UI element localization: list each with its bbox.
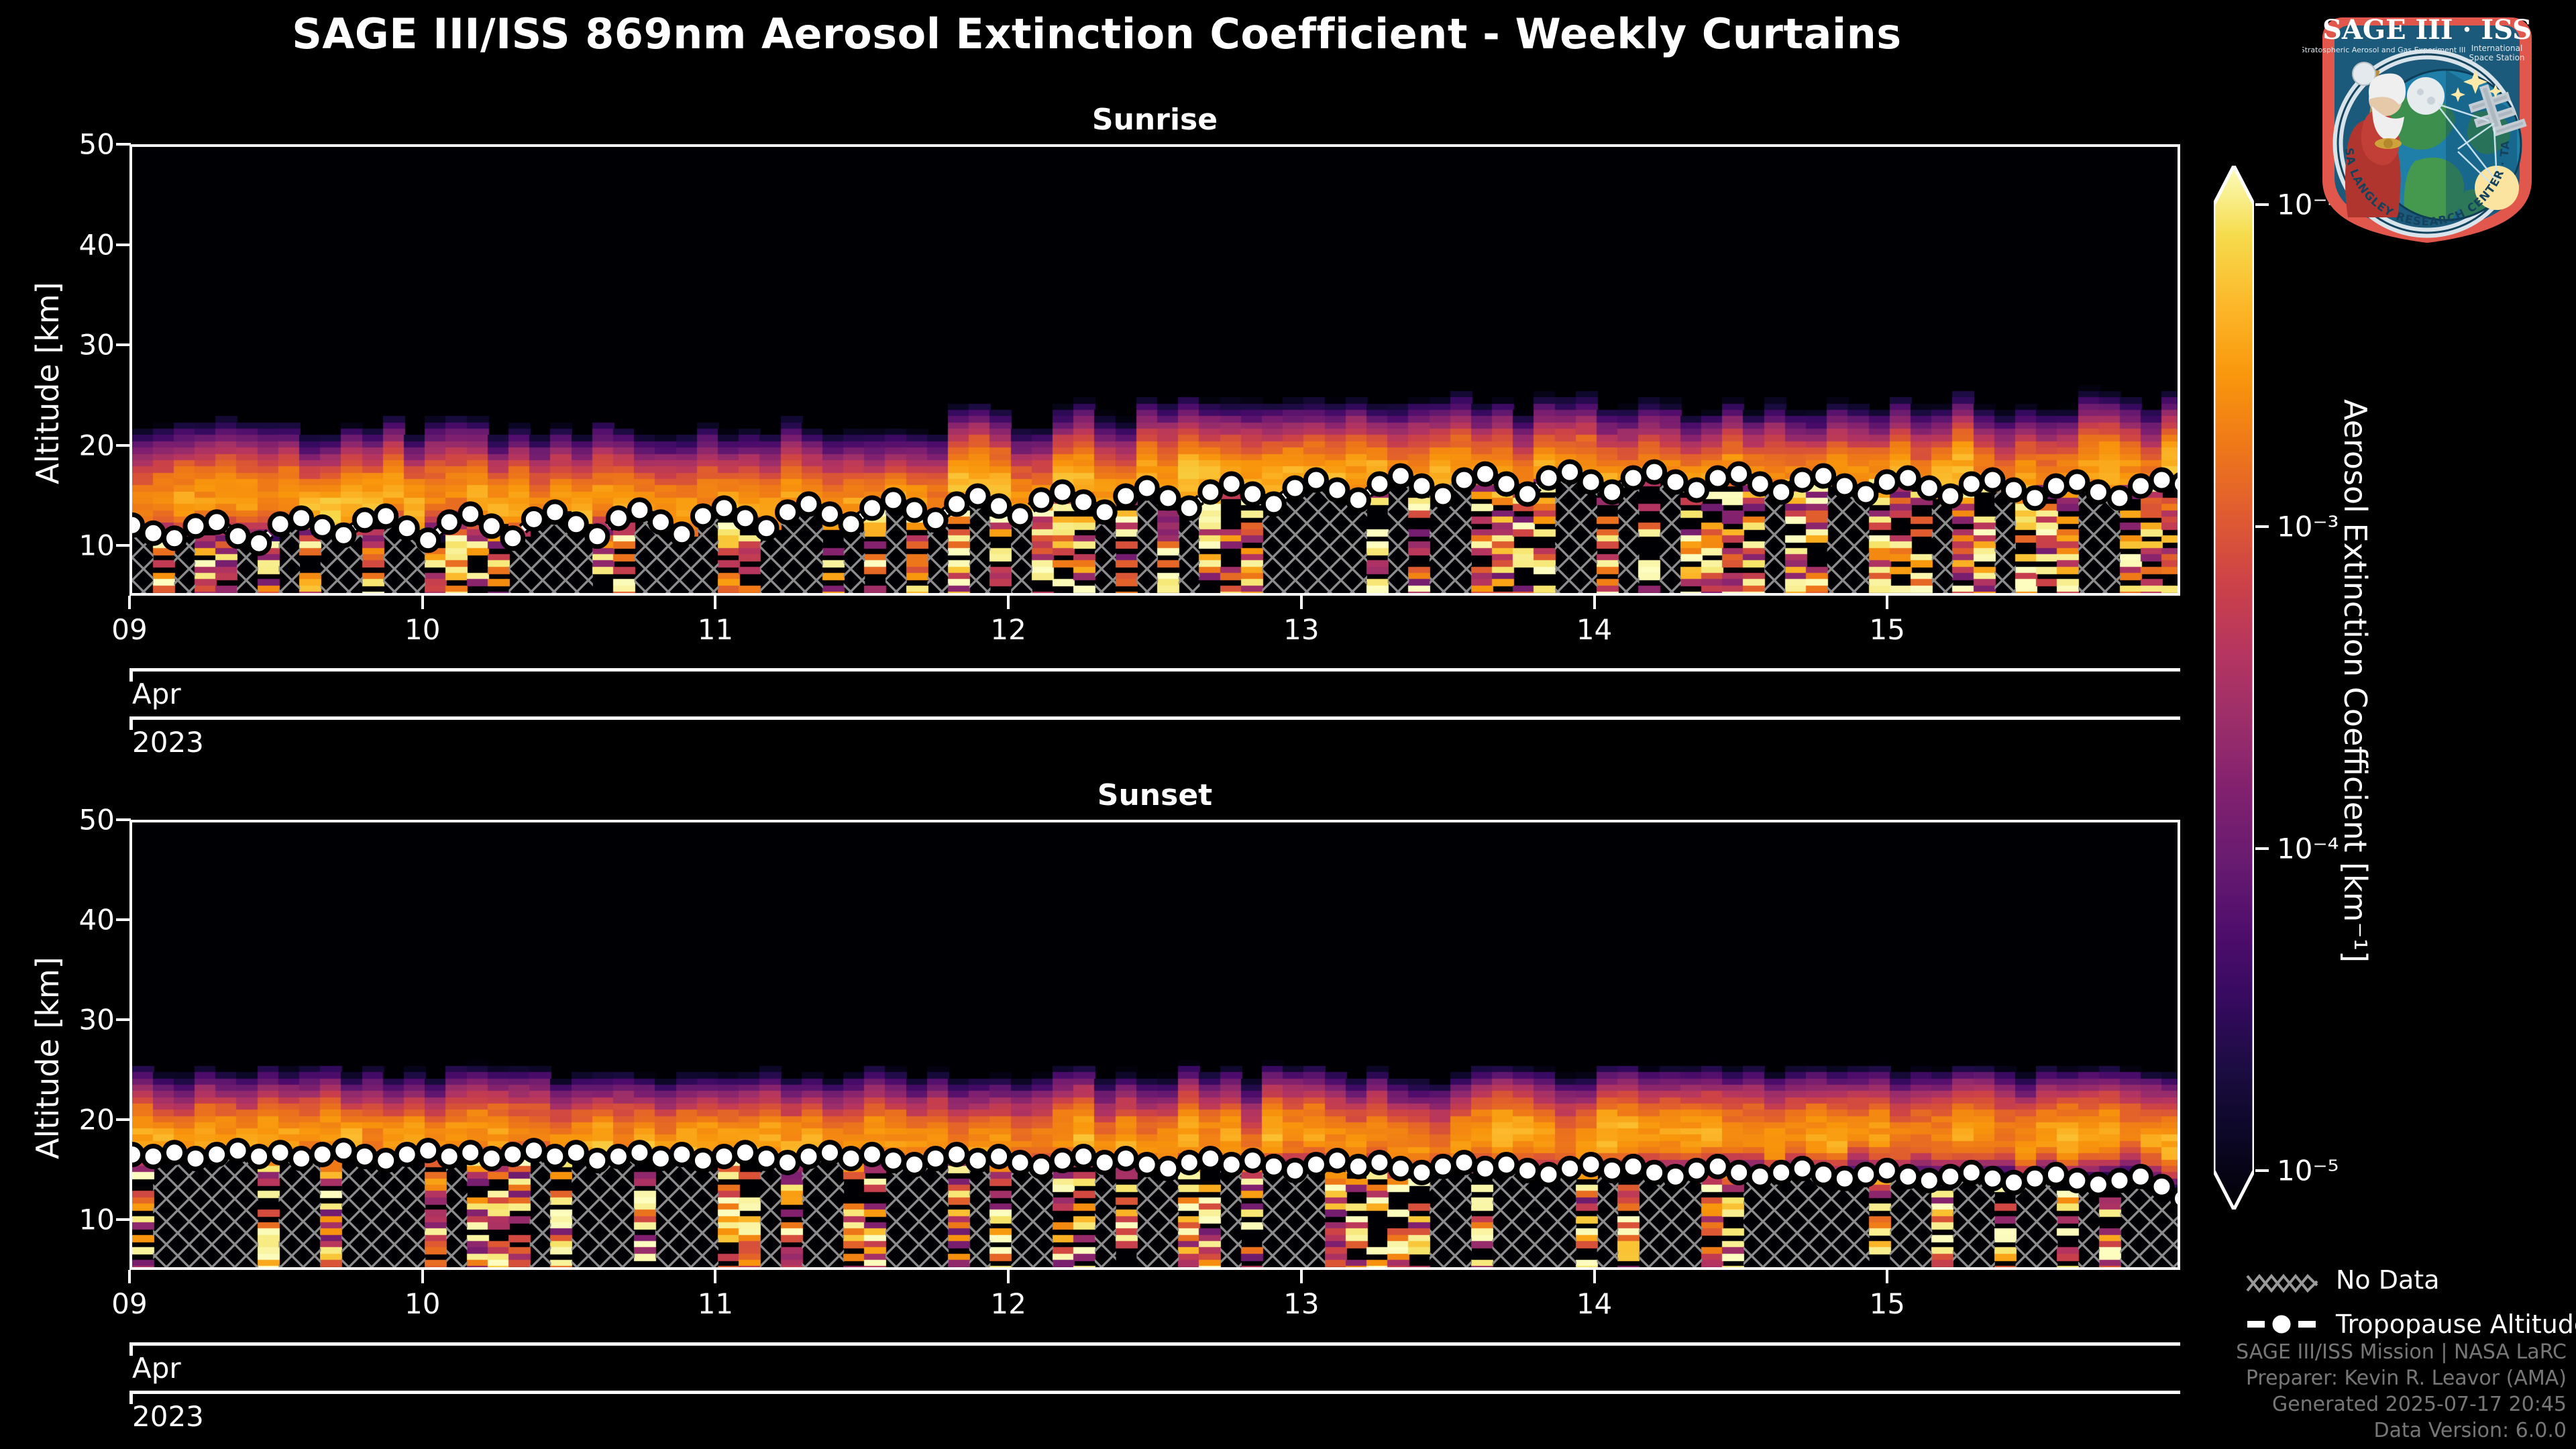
x-tick-mark (714, 596, 716, 609)
logo-subtitle-left: Stratospheric Aerosol and Gas Experiment… (2302, 46, 2465, 54)
plot-area-sunrise[interactable] (129, 144, 2180, 596)
footer-line-version: Data Version: 6.0.0 (2236, 1417, 2567, 1444)
tropopause-marker (2025, 488, 2045, 508)
tropopause-marker (291, 508, 312, 529)
tropopause-marker (756, 1148, 777, 1169)
legend-label-tropopause: Tropopause Altitude (2336, 1309, 2576, 1339)
tropopause-marker (672, 1144, 692, 1165)
page-title: SAGE III/ISS 869nm Aerosol Extinction Co… (0, 9, 2194, 58)
no-data-hatch (1807, 1175, 1828, 1270)
tropopause-marker (608, 508, 629, 529)
tropopause-marker (692, 506, 713, 527)
footer-line-generated: Generated 2025-07-17 20:45 (2236, 1391, 2567, 1417)
tropopause-marker (1136, 478, 1157, 498)
tropopause-marker (650, 512, 671, 533)
tropopause-marker (1200, 482, 1221, 502)
tropopause-marker-icon (2246, 1309, 2318, 1339)
no-data-hatch (2099, 498, 2121, 596)
tropopause-marker (1496, 474, 1517, 494)
y-tick-label: 50 (56, 128, 115, 161)
colorbar-tick-mark (2255, 847, 2269, 850)
tropopause-marker (1623, 468, 1644, 488)
tropopause-marker (1707, 468, 1728, 488)
tropopause-marker (227, 1140, 248, 1161)
tropopause-marker (439, 1146, 460, 1167)
tropopause-marker (1940, 486, 1961, 506)
tropopause-marker (820, 504, 841, 525)
tropopause-marker (1052, 1150, 1073, 1171)
tropopause-marker (1031, 490, 1052, 511)
tropopause-marker (1665, 472, 1686, 492)
y-tick-mark (116, 244, 131, 246)
tropopause-marker (1771, 1162, 1792, 1183)
tropopause-marker (143, 523, 164, 543)
x-tick-label: 14 (1576, 613, 1612, 646)
legend-item-no-data[interactable]: No Data (2246, 1265, 2440, 1295)
no-data-hatch (1785, 1169, 1807, 1270)
tropopause-marker (185, 516, 206, 537)
sage-iii-iss-mission-patch-logo[interactable]: SAGE III · ISS Stratospheric Aerosol and… (2302, 5, 2552, 255)
tropopause-marker (1644, 1162, 1665, 1183)
tropopause-marker (2131, 476, 2151, 496)
tropopause-marker (2151, 470, 2172, 490)
footer-credits: SAGE III/ISS Mission | NASA LaRC Prepare… (2236, 1339, 2567, 1444)
tropopause-marker (883, 1150, 904, 1171)
no-data-hatch (216, 1155, 237, 1270)
x-tick-mark (1593, 596, 1596, 609)
tropopause-marker (1390, 1158, 1411, 1179)
mission-patch-icon: SAGE III · ISS Stratospheric Aerosol and… (2302, 5, 2552, 255)
tropopause-marker (1327, 480, 1348, 500)
tropopause-marker (1834, 1168, 1855, 1189)
no-data-hatch (1827, 486, 1849, 596)
no-data-hatch (1136, 1165, 1158, 1270)
tropopause-marker (1813, 466, 1834, 486)
no-data-hatch (1555, 1169, 1576, 1270)
tropopause-marker (1496, 1155, 1517, 1175)
no-data-hatch (1764, 1173, 1786, 1270)
tropopause-marker (1411, 1162, 1432, 1183)
tropopause-marker (629, 500, 650, 521)
no-data-hatch (1576, 482, 1597, 596)
tropopause-marker (1813, 1164, 1834, 1185)
tropopause-marker (1686, 480, 1707, 500)
x-tick-mark (421, 596, 424, 609)
date-axis-rule-year (129, 716, 2180, 720)
tropopause-marker (1158, 1158, 1179, 1179)
tropopause-marker (629, 1142, 650, 1163)
tropopause-marker (566, 514, 586, 535)
no-data-hatch (1283, 1171, 1305, 1270)
tropopause-marker (2088, 1174, 2108, 1195)
date-axis-label-month: Apr (132, 1352, 181, 1385)
tropopause-marker (608, 1146, 629, 1167)
tropopause-marker (2173, 1188, 2181, 1209)
no-data-hatch (195, 1159, 217, 1270)
no-data-hatch (1430, 496, 1451, 596)
no-data-hatch (1325, 490, 1346, 596)
tropopause-marker (502, 528, 523, 549)
tropopause-marker (1433, 1156, 1454, 1177)
tropopause-marker (1876, 1160, 1897, 1181)
tropopause-marker (1221, 1155, 1242, 1175)
tropopause-marker (1580, 472, 1601, 492)
no-data-hatch (676, 1155, 698, 1270)
tropopause-marker (1179, 1152, 1199, 1173)
tropopause-marker (1602, 1160, 1623, 1181)
no-data-hatch (1534, 1175, 1556, 1270)
tropopause-marker (502, 1144, 523, 1165)
tropopause-marker (396, 1144, 417, 1165)
no-data-hatch (697, 1161, 718, 1270)
tropopause-marker (2151, 1176, 2172, 1197)
tropopause-marker (566, 1142, 586, 1163)
date-axis-label-year: 2023 (132, 1400, 204, 1433)
tropopause-marker (333, 525, 354, 545)
tropopause-marker (1094, 502, 1115, 523)
y-tick-mark (116, 544, 131, 547)
tropopause-marker (1580, 1155, 1601, 1175)
date-axis-rule-month (129, 1342, 2180, 1346)
legend-item-tropopause[interactable]: Tropopause Altitude (2246, 1309, 2576, 1339)
tropopause-marker (1538, 468, 1559, 488)
plot-area-sunset[interactable] (129, 820, 2180, 1270)
tropopause-marker (1750, 474, 1770, 494)
no-data-hatch (1032, 1167, 1053, 1270)
tropopause-marker (1369, 474, 1390, 494)
logo-subtitle-right-2: Space Station (2469, 53, 2524, 62)
y-tick-mark (116, 1118, 131, 1121)
tropopause-marker (587, 526, 608, 547)
tropopause-marker (1982, 1168, 2003, 1189)
date-axis-rule-year (129, 1391, 2180, 1394)
no-data-hatch (1095, 1163, 1116, 1270)
x-tick-mark (1007, 1270, 1010, 1283)
y-tick-mark (116, 444, 131, 447)
no-data-hatch (1932, 496, 1953, 596)
tropopause-marker (2067, 472, 2088, 492)
tropopause-marker (439, 512, 460, 533)
footer-line-mission: SAGE III/ISS Mission | NASA LaRC (2236, 1339, 2567, 1365)
no-data-hatch (1743, 1177, 1765, 1270)
colorbar-tick-label: 10⁻⁴ (2277, 833, 2339, 865)
no-data-hatch (300, 1159, 321, 1270)
tropopause-marker (1623, 1156, 1644, 1177)
y-tick-label: 40 (56, 904, 115, 936)
x-tick-mark (1886, 596, 1888, 609)
tropopause-marker (1729, 1162, 1750, 1183)
date-axis-label-month: Apr (132, 678, 181, 710)
tropopause-marker (714, 498, 735, 519)
tropopause-marker (925, 1148, 946, 1169)
tropopause-marker (1707, 1156, 1728, 1177)
x-tick-label: 10 (405, 1287, 440, 1320)
no-data-hatch (927, 1159, 949, 1270)
y-axis-label-sunrise: Altitude [km] (30, 282, 66, 484)
tropopause-marker (1116, 1148, 1136, 1169)
no-data-hatch (383, 1161, 405, 1270)
no-data-hatch (1660, 482, 1681, 596)
tropopause-marker (2045, 1164, 2066, 1185)
no-data-hatch (1994, 490, 2016, 596)
tropopause-overlay-sunrise (132, 147, 2180, 596)
tropopause-marker (523, 508, 544, 529)
no-data-hatch (2078, 1185, 2100, 1270)
tropopause-marker (798, 1146, 819, 1167)
no-data-hatch (1304, 1165, 1326, 1270)
tropopause-marker (862, 1144, 883, 1165)
no-data-hatch (1430, 1167, 1451, 1270)
tropopause-marker (1305, 470, 1326, 490)
tropopause-marker (1475, 464, 1496, 484)
tropopause-marker (904, 1155, 925, 1175)
tropopause-marker (925, 510, 946, 531)
tropopause-marker (1560, 462, 1580, 482)
no-data-hatch (1011, 1163, 1032, 1270)
tropopause-marker (820, 1142, 841, 1163)
tropopause-marker (1665, 1166, 1686, 1187)
no-data-hatch (1848, 494, 1870, 596)
tropopause-marker (396, 518, 417, 539)
tropopause-marker (481, 516, 502, 537)
tropopause-marker (333, 1140, 354, 1161)
y-tick-label: 40 (56, 228, 115, 261)
date-axis-rule-month (129, 668, 2180, 672)
no-data-hatch (1597, 1171, 1619, 1270)
no-data-hatch (1911, 1181, 1932, 1270)
tropopause-marker (1327, 1150, 1348, 1171)
tropopause-marker (692, 1150, 713, 1171)
tropopause-marker (1010, 1152, 1030, 1173)
tropopause-marker (207, 512, 227, 533)
x-tick-mark (1007, 596, 1010, 609)
tropopause-marker (1031, 1156, 1052, 1177)
colorbar-tick-label: 10⁻⁵ (2277, 1155, 2339, 1187)
tropopause-marker (270, 514, 290, 535)
tropopause-marker (777, 502, 798, 523)
colorbar[interactable] (2214, 166, 2254, 1210)
tropopause-marker (1348, 1156, 1368, 1177)
tropopause-marker (1834, 476, 1855, 496)
x-tick-label: 15 (1870, 613, 1905, 646)
y-tick-mark (116, 918, 131, 921)
x-tick-mark (1593, 1270, 1596, 1283)
hatch-swatch-icon (2246, 1265, 2318, 1295)
tropopause-marker (1200, 1148, 1221, 1169)
tropopause-marker (1158, 488, 1179, 508)
tropopause-marker (2025, 1168, 2045, 1189)
x-tick-label: 12 (990, 1287, 1026, 1320)
tropopause-marker (1010, 506, 1030, 527)
tropopause-marker (460, 504, 481, 525)
tropopause-marker (1538, 1164, 1559, 1185)
x-tick-mark (421, 1270, 424, 1283)
tropopause-marker (2003, 480, 2024, 500)
tropopause-marker (756, 518, 777, 539)
y-axis-label-sunset: Altitude [km] (30, 957, 66, 1159)
tropopause-marker (862, 498, 883, 519)
colorbar-gradient (2214, 166, 2254, 1210)
tropopause-marker (1369, 1152, 1390, 1173)
no-data-hatch (1346, 500, 1367, 596)
tropopause-marker (1263, 494, 1284, 515)
x-tick-label: 11 (698, 1287, 733, 1320)
no-data-hatch (655, 1159, 677, 1270)
tropopause-overlay-sunset (132, 822, 2180, 1270)
no-data-hatch (1450, 1163, 1472, 1270)
no-data-hatch (760, 1159, 782, 1270)
x-tick-label: 11 (698, 613, 733, 646)
tropopause-marker (164, 1142, 185, 1163)
tropopause-marker (1961, 1162, 1982, 1183)
colorbar-body (2214, 166, 2254, 1210)
x-tick-mark (128, 596, 131, 609)
no-data-hatch (362, 1157, 384, 1270)
tropopause-marker (2067, 1170, 2088, 1191)
tropopause-marker (207, 1144, 227, 1165)
tropopause-marker (164, 528, 185, 549)
legend-label-no-data: No Data (2336, 1265, 2440, 1295)
tropopause-marker (1750, 1166, 1770, 1187)
x-tick-label: 14 (1576, 1287, 1612, 1320)
y-tick-mark (116, 818, 131, 821)
no-data-hatch (613, 1157, 635, 1270)
tropopause-marker (376, 1150, 396, 1171)
no-data-hatch (341, 1150, 363, 1270)
tropopause-marker (1433, 486, 1454, 506)
tropopause-marker (1961, 474, 1982, 494)
no-data-hatch (906, 1165, 928, 1270)
colorbar-tick-mark (2255, 203, 2269, 206)
tropopause-marker (1898, 468, 1919, 488)
x-tick-label: 13 (1283, 1287, 1319, 1320)
colorbar-tick-label: 10⁻³ (2277, 511, 2339, 543)
tropopause-marker (1073, 1146, 1094, 1167)
tropopause-marker (1517, 484, 1538, 504)
tropopause-marker (545, 502, 566, 523)
tropopause-marker (1792, 1158, 1813, 1179)
tropopause-marker (1116, 486, 1136, 506)
no-data-hatch (1388, 476, 1409, 596)
tropopause-marker (2131, 1166, 2151, 1187)
no-data-hatch (1179, 508, 1200, 596)
x-tick-label: 12 (990, 613, 1026, 646)
panel-title-sunrise: Sunrise (129, 103, 2180, 137)
colorbar-label: Aerosol Extinction Coefficient [km⁻¹] (2337, 399, 2373, 963)
tropopause-marker (143, 1146, 164, 1167)
no-data-hatch (1974, 1179, 1995, 1270)
tropopause-marker (1792, 470, 1813, 490)
tropopause-marker (989, 496, 1010, 517)
x-tick-mark (1300, 1270, 1303, 1283)
tropopause-marker (545, 1146, 566, 1167)
tropopause-marker (1644, 462, 1665, 482)
x-tick-label: 09 (111, 1287, 147, 1320)
no-data-hatch (592, 1161, 614, 1270)
tropopause-marker (1285, 1160, 1305, 1181)
y-tick-mark (116, 1218, 131, 1221)
no-data-hatch (1158, 1169, 1179, 1270)
tropopause-marker (1686, 1160, 1707, 1181)
tropopause-marker (1052, 482, 1073, 502)
tropopause-marker (672, 524, 692, 545)
tropopause-marker (1411, 476, 1432, 496)
tropopause-marker (376, 506, 396, 527)
no-data-hatch (1827, 1179, 1849, 1270)
panel-title-sunset: Sunset (129, 778, 2180, 812)
x-tick-label: 15 (1870, 1287, 1905, 1320)
tropopause-marker (1263, 1156, 1284, 1177)
tropopause-marker (460, 1142, 481, 1163)
tropopause-marker (2109, 488, 2130, 508)
logo-subtitle-right-1: International (2471, 44, 2523, 53)
tropopause-marker (1454, 1152, 1474, 1173)
y-tick-mark (116, 143, 131, 146)
tropopause-marker (841, 1148, 861, 1169)
tropopause-marker (1475, 1158, 1496, 1179)
tropopause-marker (249, 533, 270, 553)
tropopause-marker (481, 1148, 502, 1169)
tropopause-marker (1856, 484, 1876, 504)
tropopause-marker (650, 1148, 671, 1169)
x-tick-label: 10 (405, 613, 440, 646)
tropopause-marker (735, 508, 755, 529)
x-tick-mark (714, 1270, 716, 1283)
tropopause-marker (947, 494, 967, 515)
tropopause-marker (883, 490, 904, 511)
no-data-hatch (1764, 492, 1786, 596)
tropopause-marker (1390, 466, 1411, 486)
tropopause-marker (587, 1150, 608, 1171)
tropopause-marker (1771, 482, 1792, 502)
no-data-hatch (153, 1157, 174, 1270)
no-data-hatch (1660, 1177, 1681, 1270)
y-tick-label: 50 (56, 804, 115, 837)
tropopause-marker (777, 1152, 798, 1173)
tropopause-marker (967, 1150, 988, 1171)
tropopause-marker (1073, 492, 1094, 513)
tropopause-marker (227, 526, 248, 547)
tropopause-marker (270, 1142, 290, 1163)
tropopause-marker (1348, 490, 1368, 511)
x-tick-mark (1886, 1270, 1888, 1283)
no-data-hatch (1513, 1171, 1535, 1270)
tropopause-marker (989, 1146, 1010, 1167)
no-data-hatch (1555, 472, 1576, 596)
tropopause-marker (185, 1148, 206, 1169)
tropopause-marker (1919, 478, 1939, 498)
tropopause-marker (1094, 1152, 1115, 1173)
x-tick-label: 09 (111, 613, 147, 646)
tropopause-marker (714, 1146, 735, 1167)
tropopause-marker (418, 1140, 439, 1161)
tropopause-marker (735, 1142, 755, 1163)
tropopause-marker (1179, 498, 1199, 519)
no-data-hatch (1304, 480, 1326, 596)
tropopause-marker (1560, 1158, 1580, 1179)
y-tick-label: 10 (56, 529, 115, 562)
date-axis-label-year: 2023 (132, 726, 204, 759)
x-tick-mark (1300, 596, 1303, 609)
tropopause-marker (2045, 476, 2066, 496)
no-data-hatch (405, 1155, 426, 1270)
no-data-hatch (1262, 1167, 1283, 1270)
no-data-hatch (802, 1157, 823, 1270)
tropopause-marker (1305, 1155, 1326, 1175)
y-tick-label: 10 (56, 1203, 115, 1236)
tropopause-marker (2109, 1170, 2130, 1191)
no-data-hatch (1220, 1165, 1242, 1270)
